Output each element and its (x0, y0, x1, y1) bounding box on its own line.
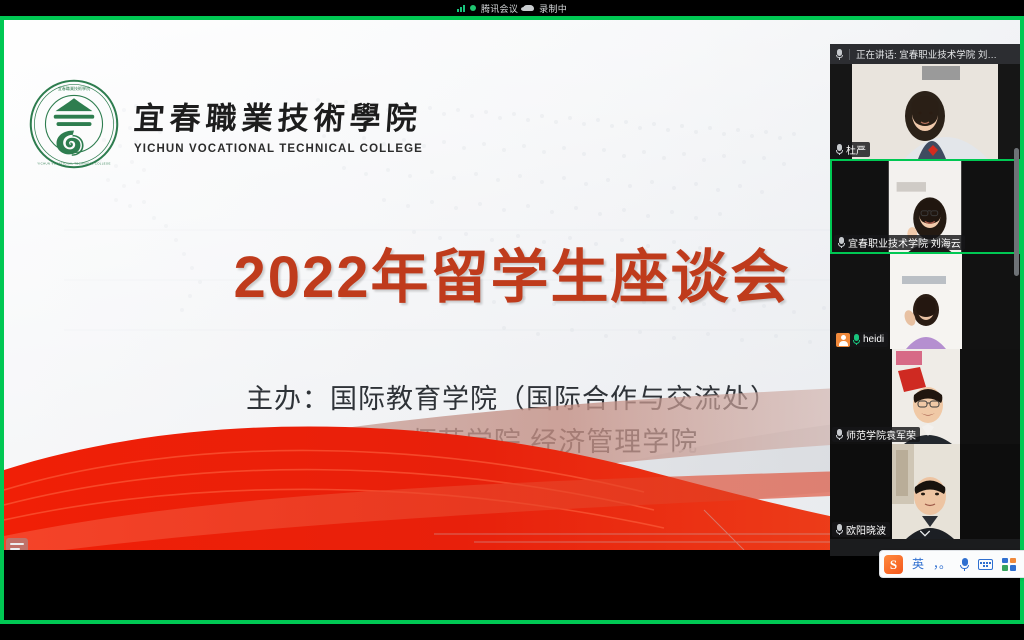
ime-toolbar[interactable]: S 英 ，。 (879, 550, 1024, 578)
chevron-down-icon[interactable] (920, 530, 931, 537)
active-speaker-banner: 正在讲话: 宜春职业技术学院 刘… (830, 44, 1020, 64)
participant-tiles: 杜严 (830, 64, 1020, 556)
participant-name-chip: 宜春职业技术学院 刘海云 (834, 235, 965, 250)
active-speaker-text: 正在讲话: 宜春职业技术学院 刘… (856, 47, 997, 61)
participant-name: heidi (863, 334, 884, 345)
ime-punctuation-toggle[interactable]: ，。 (933, 558, 951, 570)
microphone-icon (838, 237, 845, 248)
participant-tile[interactable]: 欧阳晓波 (830, 444, 1020, 539)
cloud-recording-icon (523, 5, 534, 11)
app-name-label: 腾讯会议 (481, 2, 518, 15)
participant-tile[interactable]: heidi (830, 254, 1020, 349)
participant-name-chip: heidi (832, 332, 888, 347)
signal-bars-icon (457, 4, 465, 12)
participant-filmstrip: 正在讲话: 宜春职业技术学院 刘… (830, 44, 1020, 556)
status-dot-icon (470, 5, 476, 11)
avatar-icon (836, 333, 850, 347)
recording-label: 录制中 (539, 2, 567, 15)
microphone-icon (836, 49, 843, 60)
yichun-college-emblem-icon: 宜春職業技術學院 YICHUN VOCATIONAL TECHNICAL COL… (28, 78, 120, 170)
school-name-cn: 宜春職業技術學院 (132, 93, 424, 138)
screen-root: 腾讯会议 录制中 (0, 0, 1024, 640)
sogou-logo-icon[interactable]: S (884, 555, 903, 574)
participant-name-chip: 杜严 (832, 142, 870, 157)
participant-tile[interactable]: 杜严 (830, 64, 1020, 159)
microphone-icon (836, 524, 843, 535)
school-name-block: 宜春職業技術學院 YICHUN VOCATIONAL TECHNICAL COL… (134, 93, 423, 155)
participant-tile[interactable]: 师范学院袁军荣 (830, 349, 1020, 444)
school-name-en: YICHUN VOCATIONAL TECHNICAL COLLEGE (134, 143, 423, 155)
participant-name: 宜春职业技术学院 刘海云 (848, 235, 961, 250)
participant-name: 欧阳晓波 (846, 522, 886, 537)
microphone-icon-active (853, 334, 860, 345)
bottom-bezel (0, 624, 1024, 640)
ime-mode-toggle[interactable]: 英 (912, 558, 924, 570)
filmstrip-scrollbar[interactable] (1014, 148, 1019, 276)
microphone-icon (836, 429, 843, 440)
ime-voice-input-icon[interactable] (960, 558, 969, 571)
participant-tile[interactable]: 宜春职业技术学院 刘海云 (830, 159, 1020, 254)
ime-toolbox-icon[interactable] (1002, 558, 1016, 571)
participant-name: 师范学院袁军荣 (846, 427, 916, 442)
participant-name-chip: 师范学院袁军荣 (832, 427, 920, 442)
svg-text:宜春職業技術學院: 宜春職業技術學院 (58, 85, 90, 91)
college-logo: 宜春職業技術學院 YICHUN VOCATIONAL TECHNICAL COL… (28, 78, 423, 170)
soft-keyboard-icon[interactable] (978, 559, 993, 570)
meeting-status-bar: 腾讯会议 录制中 (0, 0, 1024, 16)
slide-menu-icon[interactable] (6, 538, 28, 550)
svg-text:YICHUN VOCATIONAL TECHNICAL CO: YICHUN VOCATIONAL TECHNICAL COLLEGE (37, 161, 111, 165)
participant-name-chip: 欧阳晓波 (832, 522, 890, 537)
participant-name: 杜严 (846, 142, 866, 157)
banner-divider (849, 49, 850, 60)
microphone-icon (836, 144, 843, 155)
